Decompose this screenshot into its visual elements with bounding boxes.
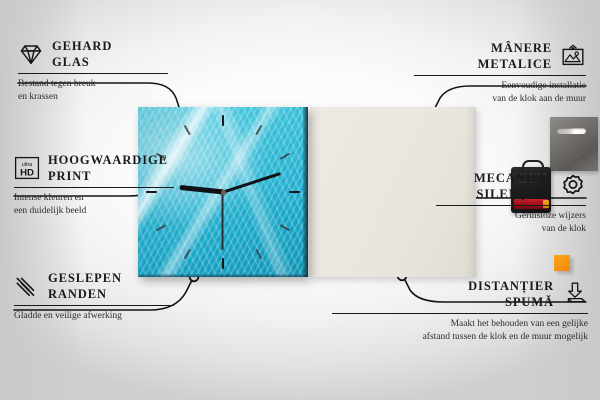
callout-hoogwaardige-print: ultra HD HOOGWAARDIGE PRINT Intense kleu… [14, 152, 174, 217]
callout-header: GEHARD GLAS [18, 38, 168, 70]
callout-rule [14, 187, 174, 188]
callout-title-line1: MECANISM [474, 170, 552, 186]
product-infographic: GEHARD GLAS Bestand tegen breuk en krass… [0, 0, 600, 400]
callout-desc-line1: Intense kleuren en [14, 192, 174, 205]
callout-desc-line1: Geruisloze wijzers [436, 210, 586, 223]
callout-manere-metalice: MÂNERE METALICE Eenvoudige installatie v… [414, 40, 586, 105]
callout-rule [414, 75, 586, 76]
callout-header: MECANISM SILENȚIOS [436, 170, 586, 202]
callout-header: GESLEPEN RANDEN [14, 270, 174, 302]
callout-title-line1: DISTANȚIER [468, 278, 554, 294]
callout-desc-line1: Bestand tegen breuk [18, 78, 168, 91]
callout-desc-line2: van de klok [436, 223, 586, 236]
clock-pivot [221, 190, 226, 195]
callout-rule [436, 205, 586, 206]
callout-header: DISTANȚIER SPUMĂ [332, 278, 588, 310]
svg-text:HD: HD [20, 167, 34, 178]
callout-title-line1: GEHARD [52, 38, 112, 54]
callout-header: MÂNERE METALICE [414, 40, 586, 72]
callout-rule [18, 73, 168, 74]
beveled-edges-icon [14, 273, 40, 299]
callout-title-line2: SPUMĂ [468, 294, 554, 310]
diamond-icon [18, 41, 44, 67]
picture-hanger-icon [560, 43, 586, 69]
foam-spacer [554, 255, 570, 271]
callout-title-line2: SILENȚIOS [474, 186, 552, 202]
callout-desc-line1: Eenvoudige installatie [414, 80, 586, 93]
callout-title-line2: PRINT [48, 168, 168, 184]
callout-desc-line1: Maakt het behouden van een gelijke [332, 318, 588, 331]
spacer-down-arrow-icon [562, 281, 588, 307]
product-image [138, 107, 476, 277]
callout-rule [332, 313, 588, 314]
callout-rule [14, 305, 174, 306]
callout-mecanism-silentios: MECANISM SILENȚIOS Geruisloze wijzers va… [436, 170, 586, 235]
callout-desc-line2: een duidelijk beeld [14, 205, 174, 218]
callout-distantier-spuma: DISTANȚIER SPUMĂ Maakt het behouden van … [332, 278, 588, 343]
callout-title-line1: MÂNERE [478, 40, 552, 56]
callout-desc-line1: Gladde en veilige afwerking [14, 310, 174, 323]
callout-desc-line2: afstand tussen de klok en de muur mogeli… [332, 331, 588, 344]
metal-hanger-plate [550, 117, 598, 171]
callout-title-line2: GLAS [52, 54, 112, 70]
gear-icon [560, 173, 586, 199]
callout-gehard-glas: GEHARD GLAS Bestand tegen breuk en krass… [18, 38, 168, 103]
callout-desc-line2: van de klok aan de muur [414, 93, 586, 106]
clock-right-edge [303, 107, 308, 277]
callout-header: ultra HD HOOGWAARDIGE PRINT [14, 152, 174, 184]
callout-title-line1: HOOGWAARDIGE [48, 152, 168, 168]
hanger-slot [557, 128, 586, 134]
ultra-hd-icon: ultra HD [14, 155, 40, 181]
callout-title-line2: RANDEN [48, 286, 122, 302]
callout-geslepen-randen: GESLEPEN RANDEN Gladde en veilige afwerk… [14, 270, 174, 323]
callout-title-line2: METALICE [478, 56, 552, 72]
callout-desc-line2: en krassen [18, 91, 168, 104]
callout-title-line1: GESLEPEN [48, 270, 122, 286]
